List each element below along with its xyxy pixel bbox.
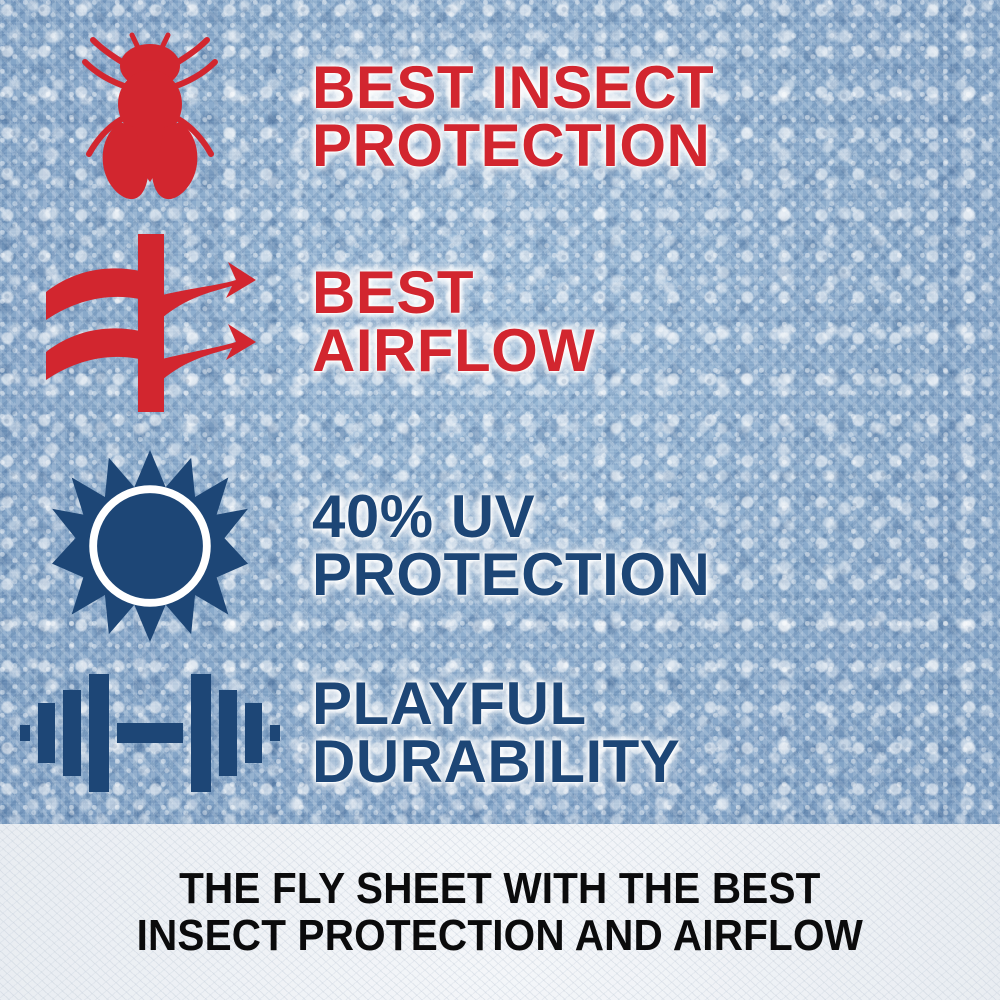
- feature-row-uv-protection: 40% UV PROTECTION: [0, 438, 1000, 653]
- feature-row-insect-protection: BEST INSECT PROTECTION: [0, 22, 1000, 212]
- caption-band: THE FLY SHEET WITH THE BEST INSECT PROTE…: [0, 824, 1000, 1000]
- feature-label-insect-protection: BEST INSECT PROTECTION: [312, 59, 1000, 174]
- sun-icon-container: [0, 448, 300, 644]
- feature-label-airflow: BEST AIRFLOW: [312, 264, 1000, 379]
- airflow-icon-container: [0, 230, 300, 415]
- feature-label-cell-insect-protection: BEST INSECT PROTECTION: [300, 59, 1000, 174]
- feature-label-uv-protection: 40% UV PROTECTION: [312, 488, 1000, 603]
- feature-label-durability: PLAYFUL DURABILITY: [312, 675, 1000, 790]
- airflow-through-barrier-icon: [40, 230, 260, 415]
- feature-label-cell-uv-protection: 40% UV PROTECTION: [300, 488, 1000, 603]
- feature-label-cell-durability: PLAYFUL DURABILITY: [300, 675, 1000, 790]
- feature-row-durability: PLAYFUL DURABILITY: [0, 655, 1000, 810]
- feature-label-cell-airflow: BEST AIRFLOW: [300, 264, 1000, 379]
- feature-row-airflow: BEST AIRFLOW: [0, 222, 1000, 422]
- fly-icon: [75, 30, 225, 205]
- sun-uv-icon: [52, 448, 248, 644]
- dumbbell-icon: [20, 670, 280, 796]
- product-feature-infographic: BEST INSECT PROTECTION BEST AIRFLOW: [0, 0, 1000, 1000]
- dumbbell-icon-container: [0, 670, 300, 796]
- caption-headline: THE FLY SHEET WITH THE BEST INSECT PROTE…: [137, 865, 863, 959]
- fly-icon-container: [0, 30, 300, 205]
